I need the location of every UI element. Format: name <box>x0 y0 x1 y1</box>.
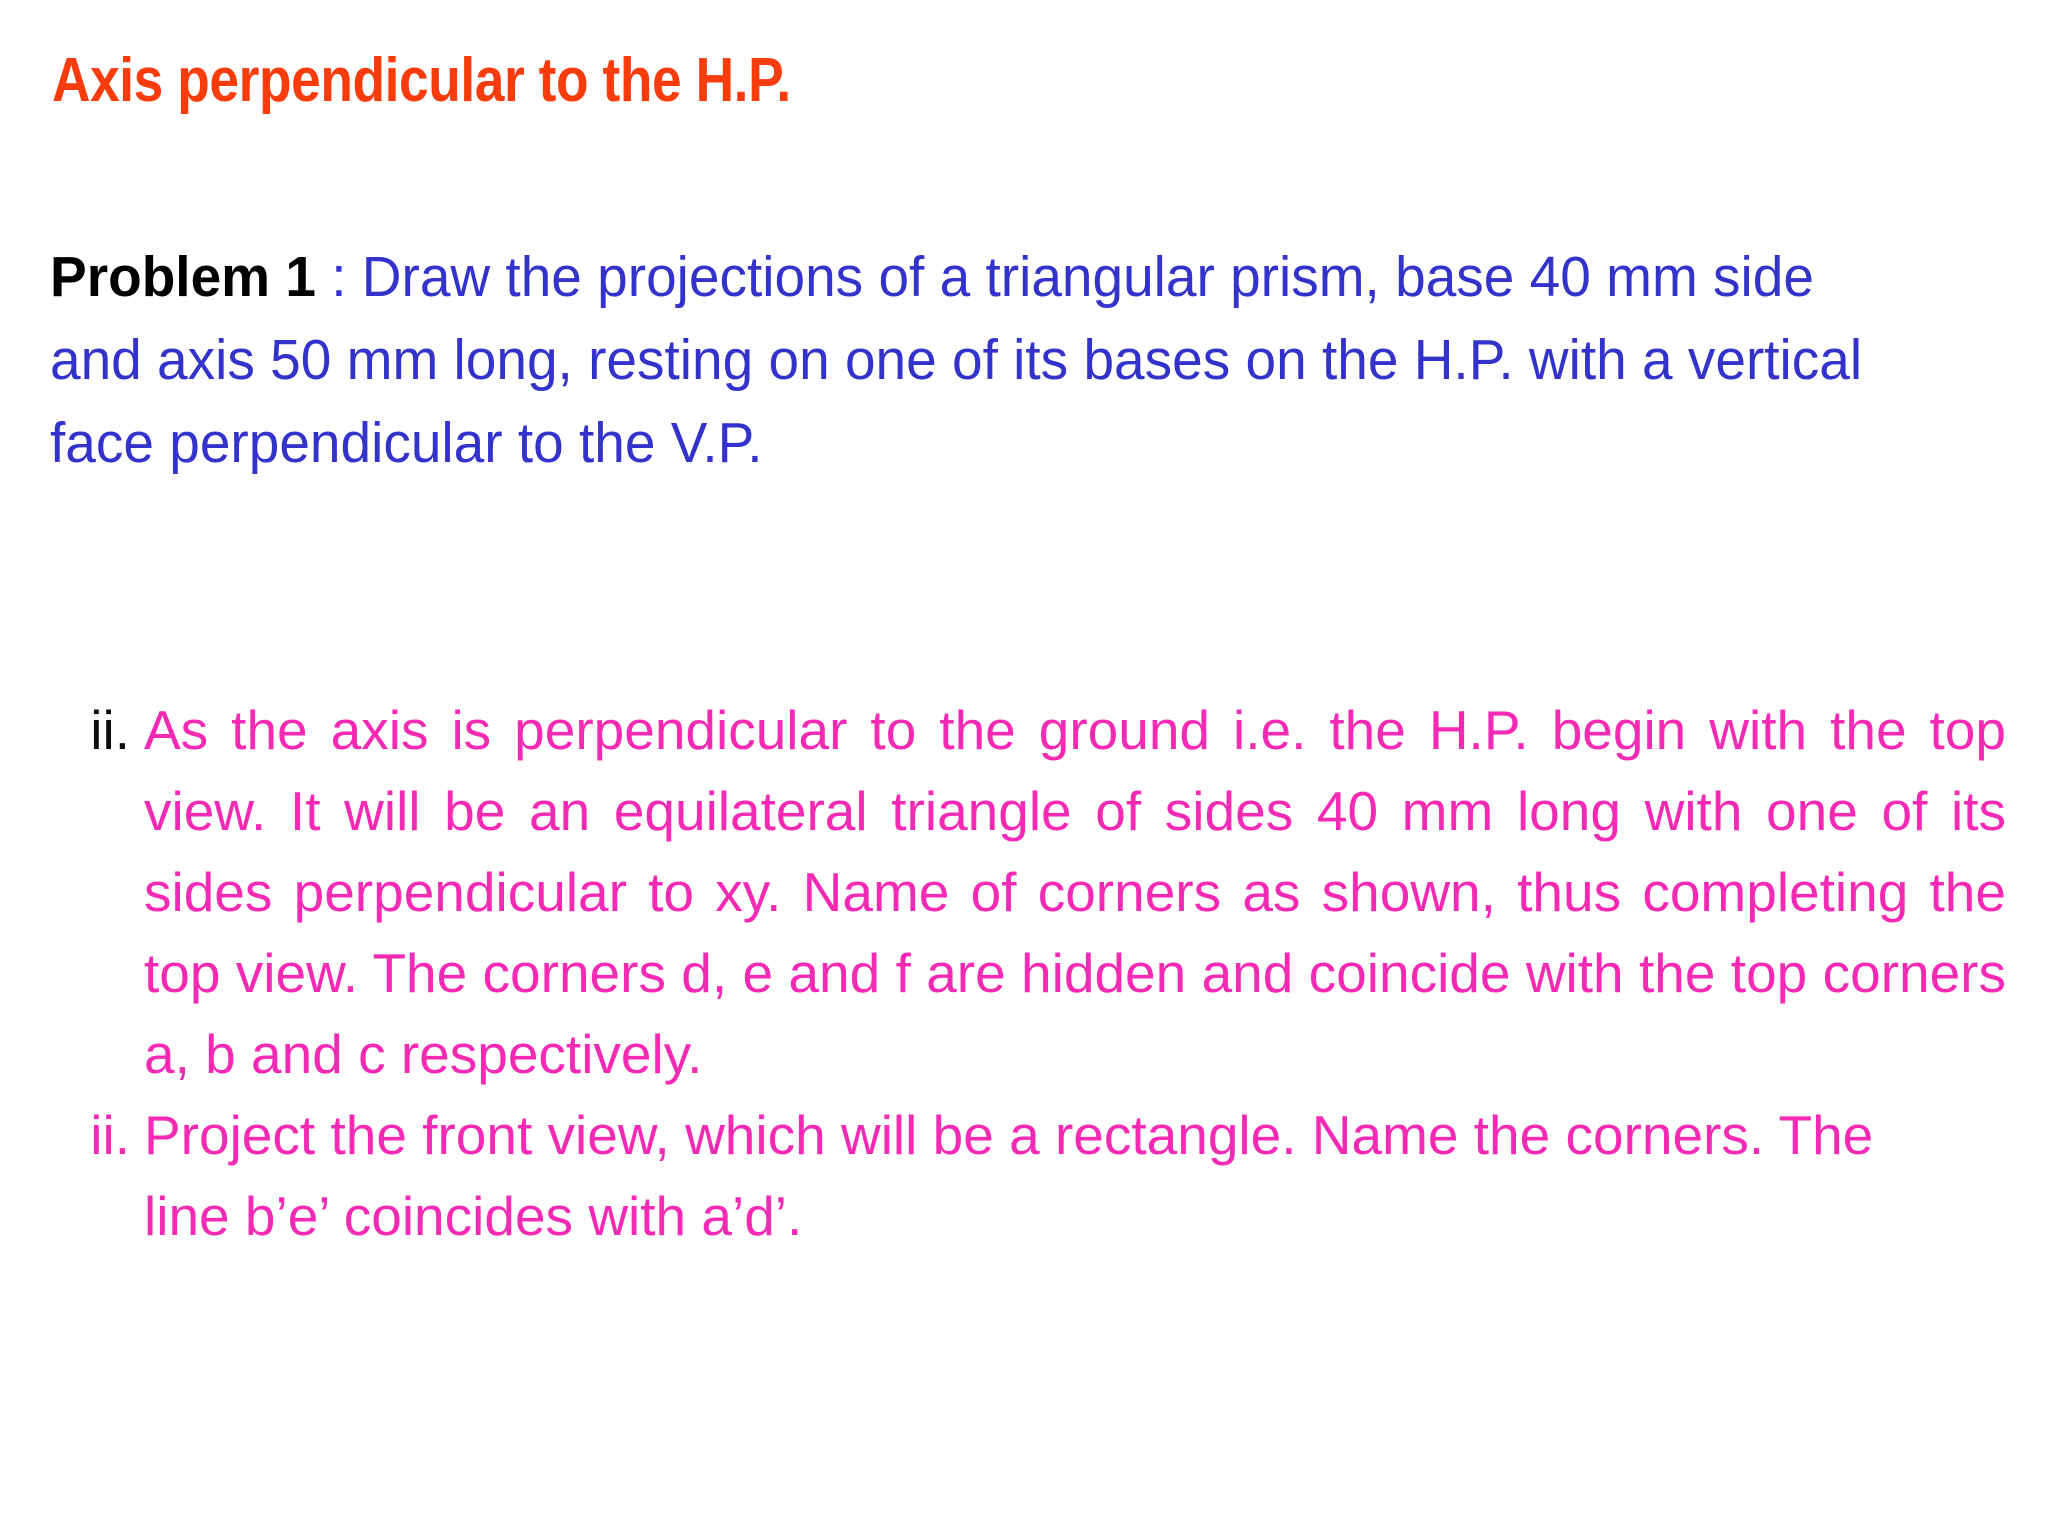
steps-list: ii. As the axis is perpendicular to the … <box>72 690 2012 1257</box>
slide-canvas: Axis perpendicular to the H.P. Problem 1… <box>0 0 2048 1536</box>
slide-title: Axis perpendicular to the H.P. <box>52 48 791 113</box>
problem-label: Problem 1 <box>50 245 316 309</box>
list-item: ii. As the axis is perpendicular to the … <box>72 690 2012 1095</box>
list-item-marker: ii. <box>72 1095 144 1176</box>
problem-separator: : <box>316 245 362 309</box>
problem-statement: Problem 1 : Draw the projections of a tr… <box>50 236 1895 485</box>
list-item-text: Project the front view, which will be a … <box>144 1095 1934 1257</box>
list-item-marker: ii. <box>72 690 144 771</box>
list-item-text: As the axis is perpendicular to the grou… <box>144 690 2006 1095</box>
list-item: ii. Project the front view, which will b… <box>72 1095 2012 1257</box>
